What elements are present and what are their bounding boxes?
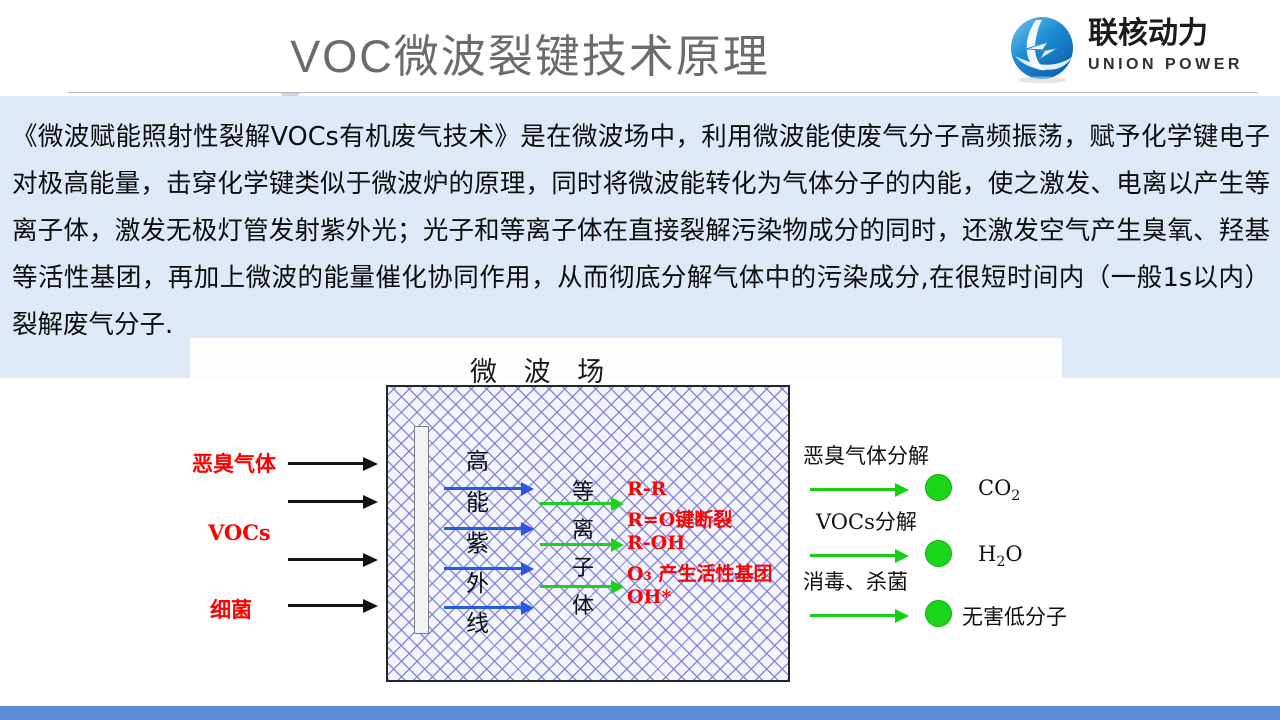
output-product-label-1: CO2 (978, 476, 1020, 504)
output-dot-2 (925, 540, 952, 567)
uv-label-char-1: 高 (466, 442, 489, 476)
input-label-bacteria: 细菌 (210, 594, 252, 624)
union-power-globe-logo-icon (1006, 12, 1078, 84)
brand-name-en: UNION POWER (1088, 55, 1270, 75)
title-divider (68, 92, 1258, 93)
plasma-label-char-3: 子 (572, 550, 594, 582)
brand-name-cn: 联核动力 (1088, 16, 1270, 52)
microwave-process-diagram: 微 波 场 恶臭气体 VOCs 细菌 高 能 紫 外 线 等 离 子 体 (0, 338, 1280, 706)
output-process-label-1: 恶臭气体分解 (803, 440, 929, 470)
output-product-label-2: H2O (978, 542, 1023, 570)
product-1-sub: 2 (1011, 488, 1020, 504)
input-label-vocs: VOCs (208, 520, 271, 545)
description-paragraph: 《微波赋能照射性裂解VOCs有机废气技术》是在微波场中，利用微波能使废气分子高频… (12, 114, 1270, 349)
output-dot-3 (925, 600, 952, 627)
reaction-line-2: R=O键断裂 (627, 505, 732, 532)
output-product-label-3: 无害低分子 (962, 601, 1067, 631)
output-process-label-2: VOCs分解 (816, 506, 917, 536)
description-panel: 《微波赋能照射性裂解VOCs有机废气技术》是在微波场中，利用微波能使废气分子高频… (0, 96, 1280, 378)
slide-header: VOC微波裂键技术原理 (0, 0, 1280, 110)
brand-logo: 联核动力 UNION POWER (1006, 10, 1272, 90)
reaction-line-1: R-R (627, 478, 666, 500)
uv-lamp-tube-icon (414, 426, 429, 634)
product-2-tail: O (1005, 542, 1022, 566)
reaction-line-3: R-OH (627, 532, 685, 554)
uv-label-char-5: 线 (466, 604, 489, 638)
input-label-odor-gas: 恶臭气体 (192, 448, 276, 478)
brand-logo-text: 联核动力 UNION POWER (1088, 16, 1270, 75)
diagram-caption: 微 波 场 (470, 350, 613, 389)
plasma-label-char-4: 体 (572, 588, 594, 620)
page-title: VOC微波裂键技术原理 (180, 20, 880, 85)
product-1-main: CO (978, 476, 1011, 500)
reaction-line-4: O₃ 产生活性基团 (627, 559, 773, 586)
bottom-accent-bar (0, 706, 1280, 720)
plasma-label-char-2: 离 (572, 512, 594, 544)
output-process-label-3: 消毒、杀菌 (803, 566, 908, 596)
output-dot-1 (925, 474, 952, 501)
product-2-main: H (978, 542, 996, 566)
reaction-line-5: OH* (627, 586, 671, 608)
